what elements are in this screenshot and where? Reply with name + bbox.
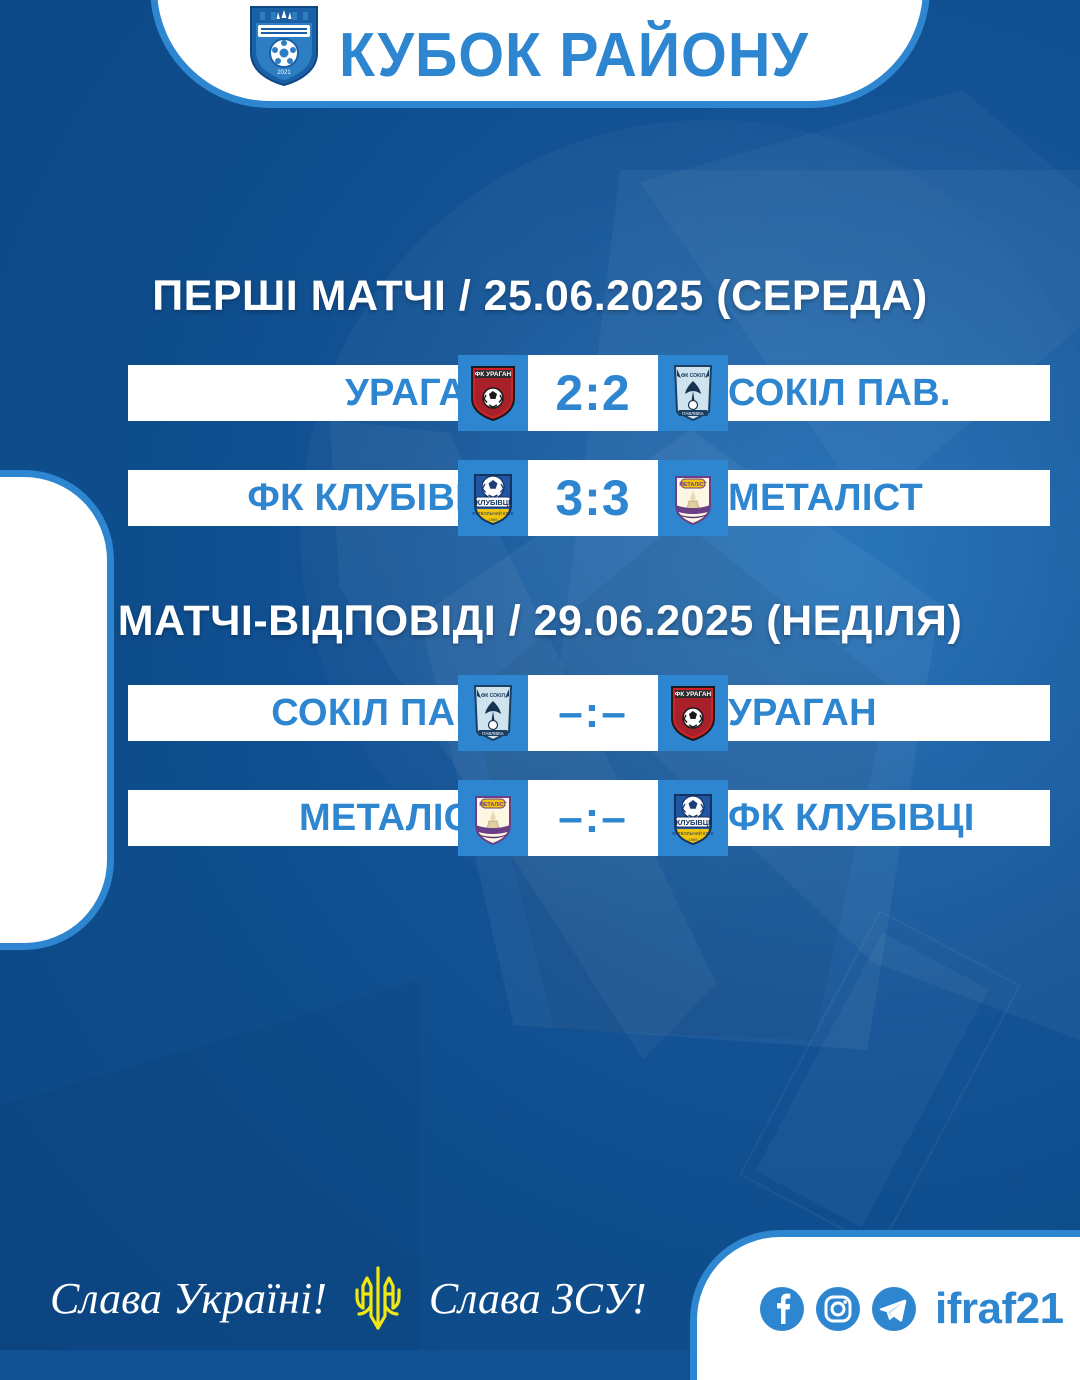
slogan-right-text: Слава ЗСУ! [429,1273,647,1324]
page-title: КУБОК РАЙОНУ [339,25,809,87]
svg-text:1969: 1969 [689,837,699,842]
metalist-crest-icon: МЕТАЛІСТ [458,780,528,856]
score-value: 2:2 [555,368,630,418]
sokil-crest-icon: ФК СОКІЛ ПАВЛІВКА [458,675,528,751]
telegram-icon[interactable] [871,1286,917,1332]
away-team-name: ФК КЛУБІВЦІ [728,790,975,846]
score-cell: 3:3 [528,460,658,536]
header-panel: 2021 КУБОК РАЙОНУ [150,0,930,108]
svg-text:2021: 2021 [277,70,291,76]
svg-text:ФК УРАГАН: ФК УРАГАН [475,371,512,378]
svg-text:ФК СОКІЛ: ФК СОКІЛ [681,373,706,379]
facebook-icon[interactable] [759,1286,805,1332]
slogan-left-text: Слава Україні! [50,1273,327,1324]
klubivtsi-crest-icon: КЛУБІВЦІ ФУТБОЛЬНИЙ КЛУБ 1969 [658,780,728,856]
section-title-return-legs: МАТЧІ-ВІДПОВІДІ / 29.06.2025 (НЕДІЛЯ) [0,597,1080,646]
svg-text:ФУТБОЛЬНИЙ КЛУБ: ФУТБОЛЬНИЙ КЛУБ [472,511,514,516]
sokil-crest-icon: ФК СОКІЛ ПАВЛІВКА [658,355,728,431]
match-row[interactable]: УРАГАН ФК УРАГАН 2:2 ФК СОКІЛ [128,365,1050,421]
metalist-crest-icon: МЕТАЛІСТ [658,460,728,536]
away-team-name: УРАГАН [728,685,877,741]
svg-text:1969: 1969 [489,517,499,522]
score-cell: –:– [528,675,658,751]
svg-text:КЛУБІВЦІ: КЛУБІВЦІ [476,498,510,507]
match-row[interactable]: СОКІЛ ПАВ. ФК СОКІЛ ПАВЛІВКА –:– ФК УРАГ… [128,685,1050,741]
match-row[interactable]: МЕТАЛІСТ МЕТАЛІСТ –:– КЛУБІВЦІ [128,790,1050,846]
fixtures-content: ПЕРШІ МАТЧІ / 25.06.2025 (СЕРЕДА) УРАГАН… [0,0,1080,1350]
footer: Слава Україні! Слава ЗСУ! [0,1230,1080,1350]
score-cell: –:– [528,780,658,856]
federation-crest-icon: 2021 [247,1,321,87]
svg-text:ФУТБОЛЬНИЙ КЛУБ: ФУТБОЛЬНИЙ КЛУБ [672,831,714,836]
svg-text:ПАВЛІВКА: ПАВЛІВКА [682,411,704,416]
away-team-name: МЕТАЛІСТ [728,470,923,526]
away-team-name: СОКІЛ ПАВ. [728,365,951,421]
home-team-name: ФК КЛУБІВЦІ [247,470,494,526]
svg-text:ПАВЛІВКА: ПАВЛІВКА [482,731,504,736]
score-value: 3:3 [555,473,630,523]
footer-slogan: Слава Україні! Слава ЗСУ! [50,1264,647,1332]
svg-text:КЛУБІВЦІ: КЛУБІВЦІ [676,818,710,827]
score-value: –:– [558,796,628,840]
svg-text:МЕТАЛІСТ: МЕТАЛІСТ [479,802,507,808]
svg-text:МЕТАЛІСТ: МЕТАЛІСТ [679,482,707,488]
stage-tab: 1/2 ФІНАЛУ [0,470,114,950]
social-handle[interactable]: ifraf21 [935,1284,1064,1334]
uragan-crest-icon: ФК УРАГАН [458,355,528,431]
score-value: –:– [558,691,628,735]
ukraine-trident-zsu-icon [349,1264,407,1332]
svg-text:ФК СОКІЛ: ФК СОКІЛ [481,693,506,699]
klubivtsi-crest-icon: КЛУБІВЦІ ФУТБОЛЬНИЙ КЛУБ 1969 [458,460,528,536]
social-panel: ifraf21 [690,1230,1080,1380]
svg-text:ФК УРАГАН: ФК УРАГАН [675,691,712,698]
section-title-first-legs: ПЕРШІ МАТЧІ / 25.06.2025 (СЕРЕДА) [0,272,1080,321]
instagram-icon[interactable] [815,1286,861,1332]
score-cell: 2:2 [528,355,658,431]
match-row[interactable]: ФК КЛУБІВЦІ КЛУБІВЦІ ФУТБОЛЬНИЙ КЛУБ 196… [128,470,1050,526]
uragan-crest-icon: ФК УРАГАН [658,675,728,751]
